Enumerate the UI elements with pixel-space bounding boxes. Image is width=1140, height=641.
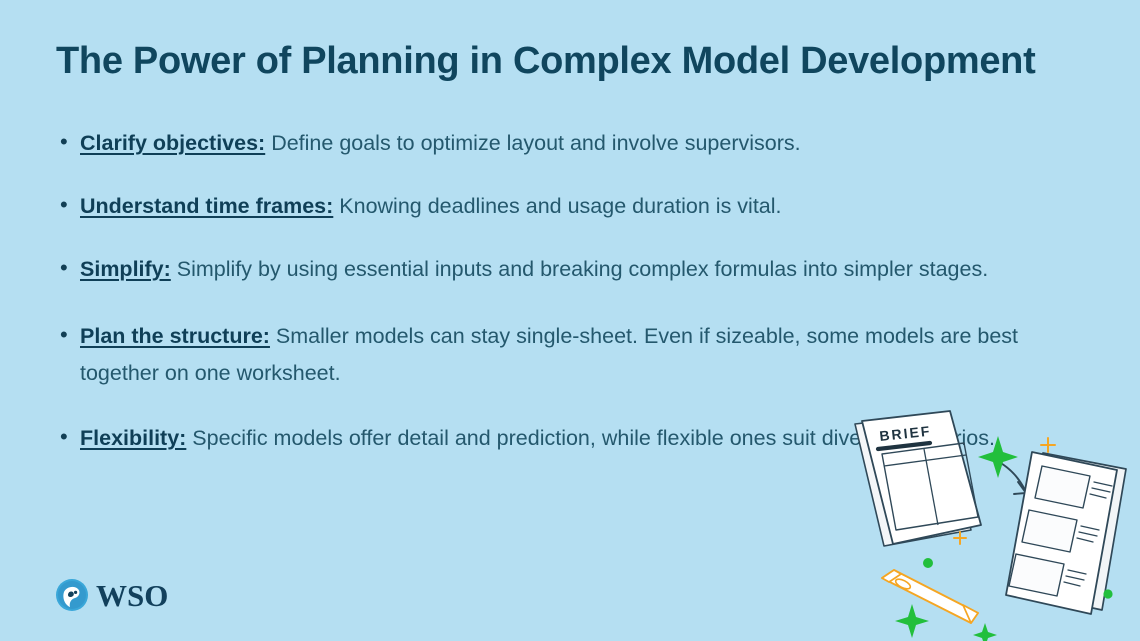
list-item-body: Define goals to optimize layout and invo… [265,131,800,155]
list-item-label: Plan the structure: [80,324,270,348]
bullet-marker-icon: • [60,318,80,352]
documents-and-pencil-illustration: BRIEF [838,408,1140,641]
wso-wordmark: WSO [96,580,168,611]
list-item-text: Simplify: Simplify by using essential in… [80,251,1070,288]
bullet-marker-icon: • [60,251,80,285]
list-item: • Clarify objectives: Define goals to op… [60,125,1070,162]
list-item: • Simplify: Simplify by using essential … [60,251,1070,288]
slide-canvas: The Power of Planning in Complex Model D… [0,0,1140,641]
list-item-text: Clarify objectives: Define goals to opti… [80,125,1070,162]
list-item-text: Understand time frames: Knowing deadline… [80,188,1070,225]
pencil-icon [882,570,978,623]
list-item-label: Understand time frames: [80,194,333,218]
wso-globe-icon [55,578,89,612]
list-item-label: Clarify objectives: [80,131,265,155]
curved-arrow-icon [986,456,1026,494]
list-item-body: Simplify by using essential inputs and b… [171,257,988,281]
list-item-label: Simplify: [80,257,171,281]
bullet-marker-icon: • [60,420,80,454]
list-item-body: Knowing deadlines and usage duration is … [333,194,781,218]
bullet-marker-icon: • [60,188,80,222]
list-item: • Plan the structure: Smaller models can… [60,318,1070,392]
wso-logo[interactable]: WSO [55,578,168,612]
list-item-label: Flexibility: [80,426,186,450]
plus-icon [954,532,966,544]
sparkle-icon [973,623,997,641]
dot-icon [923,558,933,568]
bullet-marker-icon: • [60,125,80,159]
dot-icon [1103,589,1112,598]
list-item-text: Plan the structure: Smaller models can s… [80,318,1070,392]
sparkle-icon [895,604,929,638]
plus-icon [1041,438,1055,452]
list-item: • Understand time frames: Knowing deadli… [60,188,1070,225]
page-title: The Power of Planning in Complex Model D… [56,40,1096,84]
